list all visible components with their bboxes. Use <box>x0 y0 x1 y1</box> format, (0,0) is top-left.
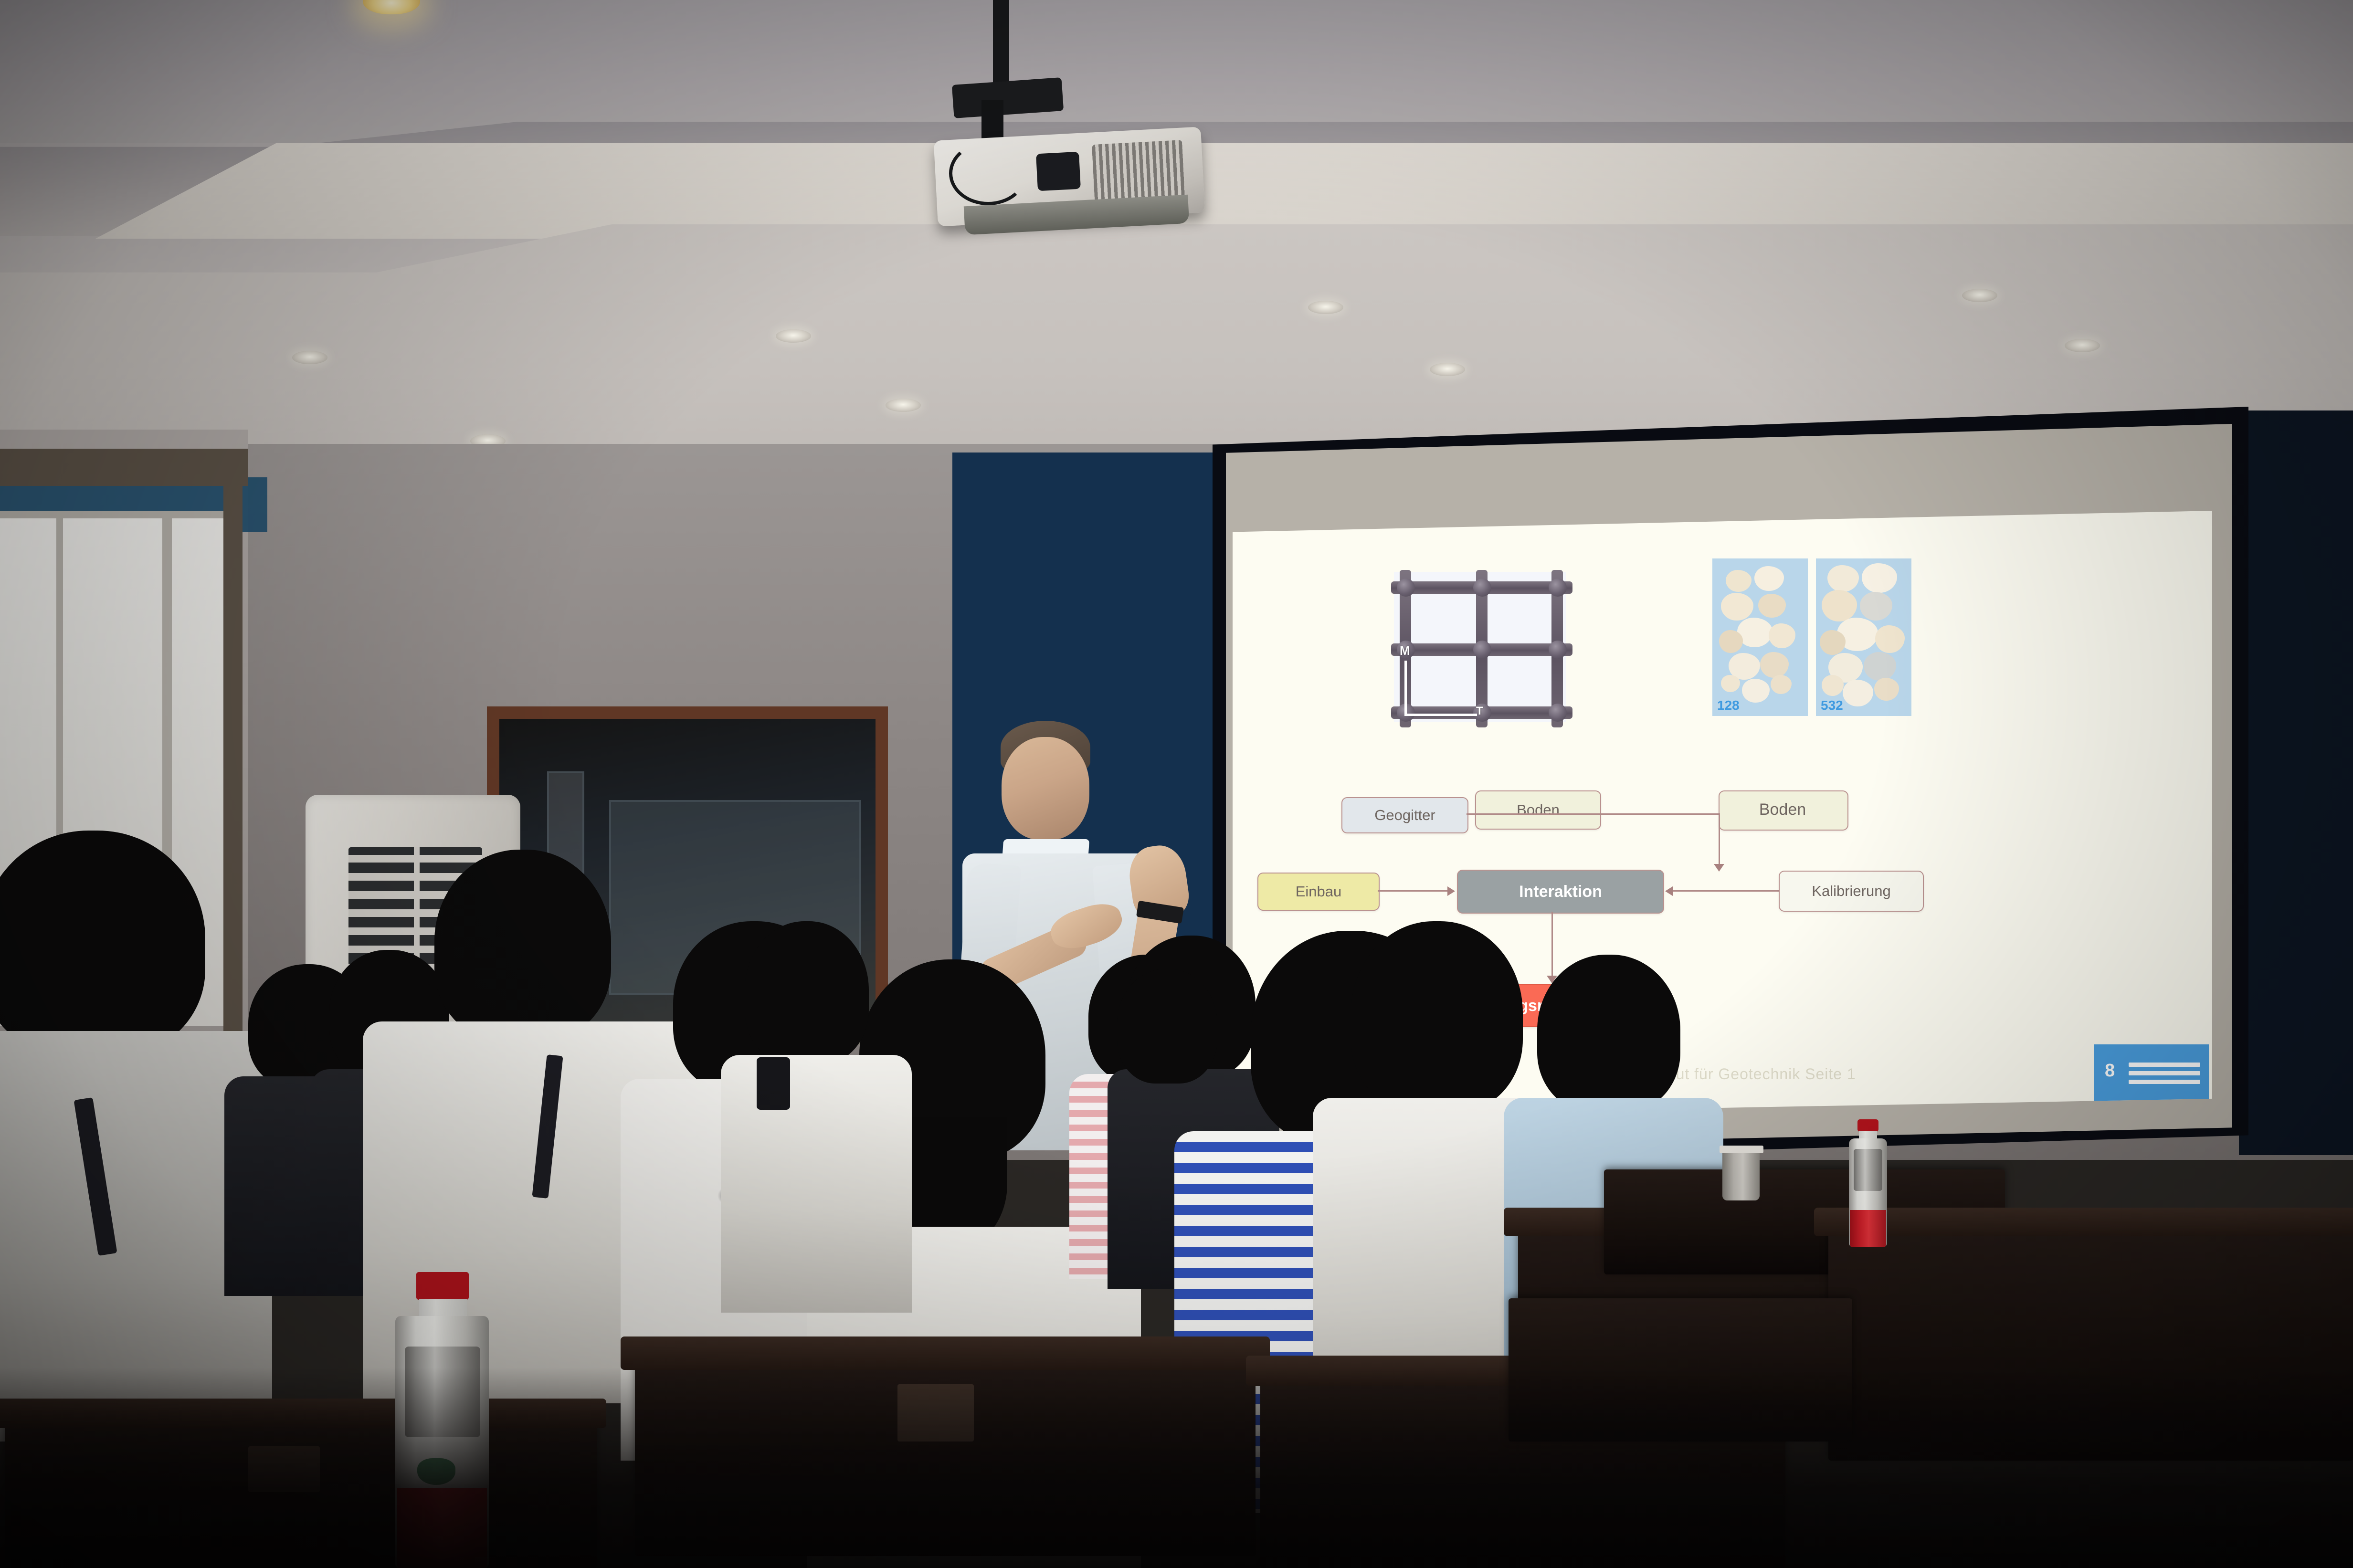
diagram-node-interaktion: Interaktion <box>1457 870 1664 914</box>
aggregate-1-label: 128 <box>1717 698 1740 713</box>
water-bottle-on-table <box>1845 1119 1890 1248</box>
window-mullion <box>0 511 224 518</box>
audience-head <box>1537 955 1680 1112</box>
foreground-shadow <box>0 1368 2353 1568</box>
edge-boden-interaktion <box>1719 813 1720 866</box>
downlight <box>1308 301 1343 314</box>
presenter-head <box>1002 737 1089 840</box>
geogrid-marker-m-label: M <box>1400 643 1410 658</box>
downlight <box>292 351 327 364</box>
mobile-phone <box>757 1057 790 1110</box>
diagram-node-boden-label: Boden <box>1719 790 1847 829</box>
audience-head <box>434 850 611 1041</box>
downlight <box>1430 363 1465 376</box>
audience-head <box>1117 969 1217 1084</box>
downlight <box>1962 289 1997 302</box>
projector-cable <box>949 141 1027 205</box>
arrowhead-left-interaktion <box>1665 886 1673 896</box>
ceiling-projector <box>936 81 1241 220</box>
bottle-label <box>1850 1210 1886 1247</box>
paper-cup <box>1722 1148 1760 1200</box>
window-frame <box>223 484 243 1033</box>
geogrid-photo: M T <box>1394 572 1566 722</box>
aggregate-photo-2: 532 <box>1816 558 1911 716</box>
geogrid-marker-t-label: T <box>1476 705 1483 718</box>
aggregate-photo-1: 128 <box>1712 558 1808 716</box>
downlight <box>776 329 811 343</box>
audience-head <box>0 831 205 1055</box>
diagram-node-geogitter: Geogitter <box>1341 797 1468 833</box>
room: M T <box>0 0 2353 1568</box>
wall-dark-right <box>2239 410 2353 1155</box>
lecture-hall-photo: M T <box>0 0 2353 1568</box>
edge-kalibrierung-interaktion <box>1672 890 1779 892</box>
bottle-water <box>1854 1149 1882 1191</box>
audience-head <box>1351 921 1523 1112</box>
geogrid-axis-vertical <box>1404 661 1407 716</box>
bottle-cap <box>1857 1119 1878 1132</box>
desk-surface <box>1814 1208 2353 1236</box>
bottle-cap <box>416 1272 469 1300</box>
edge-einbau-interaktion <box>1378 890 1449 892</box>
bench-backrest <box>621 1336 1270 1370</box>
diagram-node-einbau: Einbau <box>1257 873 1380 911</box>
slide-logo-digit: 8 <box>2105 1061 2115 1081</box>
arrowhead-down-interaktion <box>1714 864 1724 872</box>
paper-cup-rim <box>1720 1146 1763 1153</box>
projector-mount-bracket <box>952 77 1064 118</box>
downlight <box>886 399 921 412</box>
audience-head <box>745 921 869 1064</box>
geogrid-axis-horizontal <box>1404 714 1477 716</box>
edge-interaktion-wirkung <box>1551 912 1553 979</box>
acoustic-panel-blue <box>952 453 1248 688</box>
arrowhead-right-interaktion <box>1447 886 1455 896</box>
downlight <box>2065 339 2100 352</box>
slide-logo: 8 <box>2094 1044 2209 1102</box>
diagram-node-kalibrierung: Kalibrierung <box>1779 871 1924 912</box>
bottle-neck <box>419 1299 467 1318</box>
window-frame <box>0 449 248 486</box>
audience-body <box>721 1055 912 1313</box>
projector-lens <box>1036 152 1081 191</box>
aggregate-2-label: 532 <box>1821 698 1843 713</box>
diagram-node-boden: Boden <box>1475 790 1601 830</box>
projector-vent <box>1092 140 1185 202</box>
